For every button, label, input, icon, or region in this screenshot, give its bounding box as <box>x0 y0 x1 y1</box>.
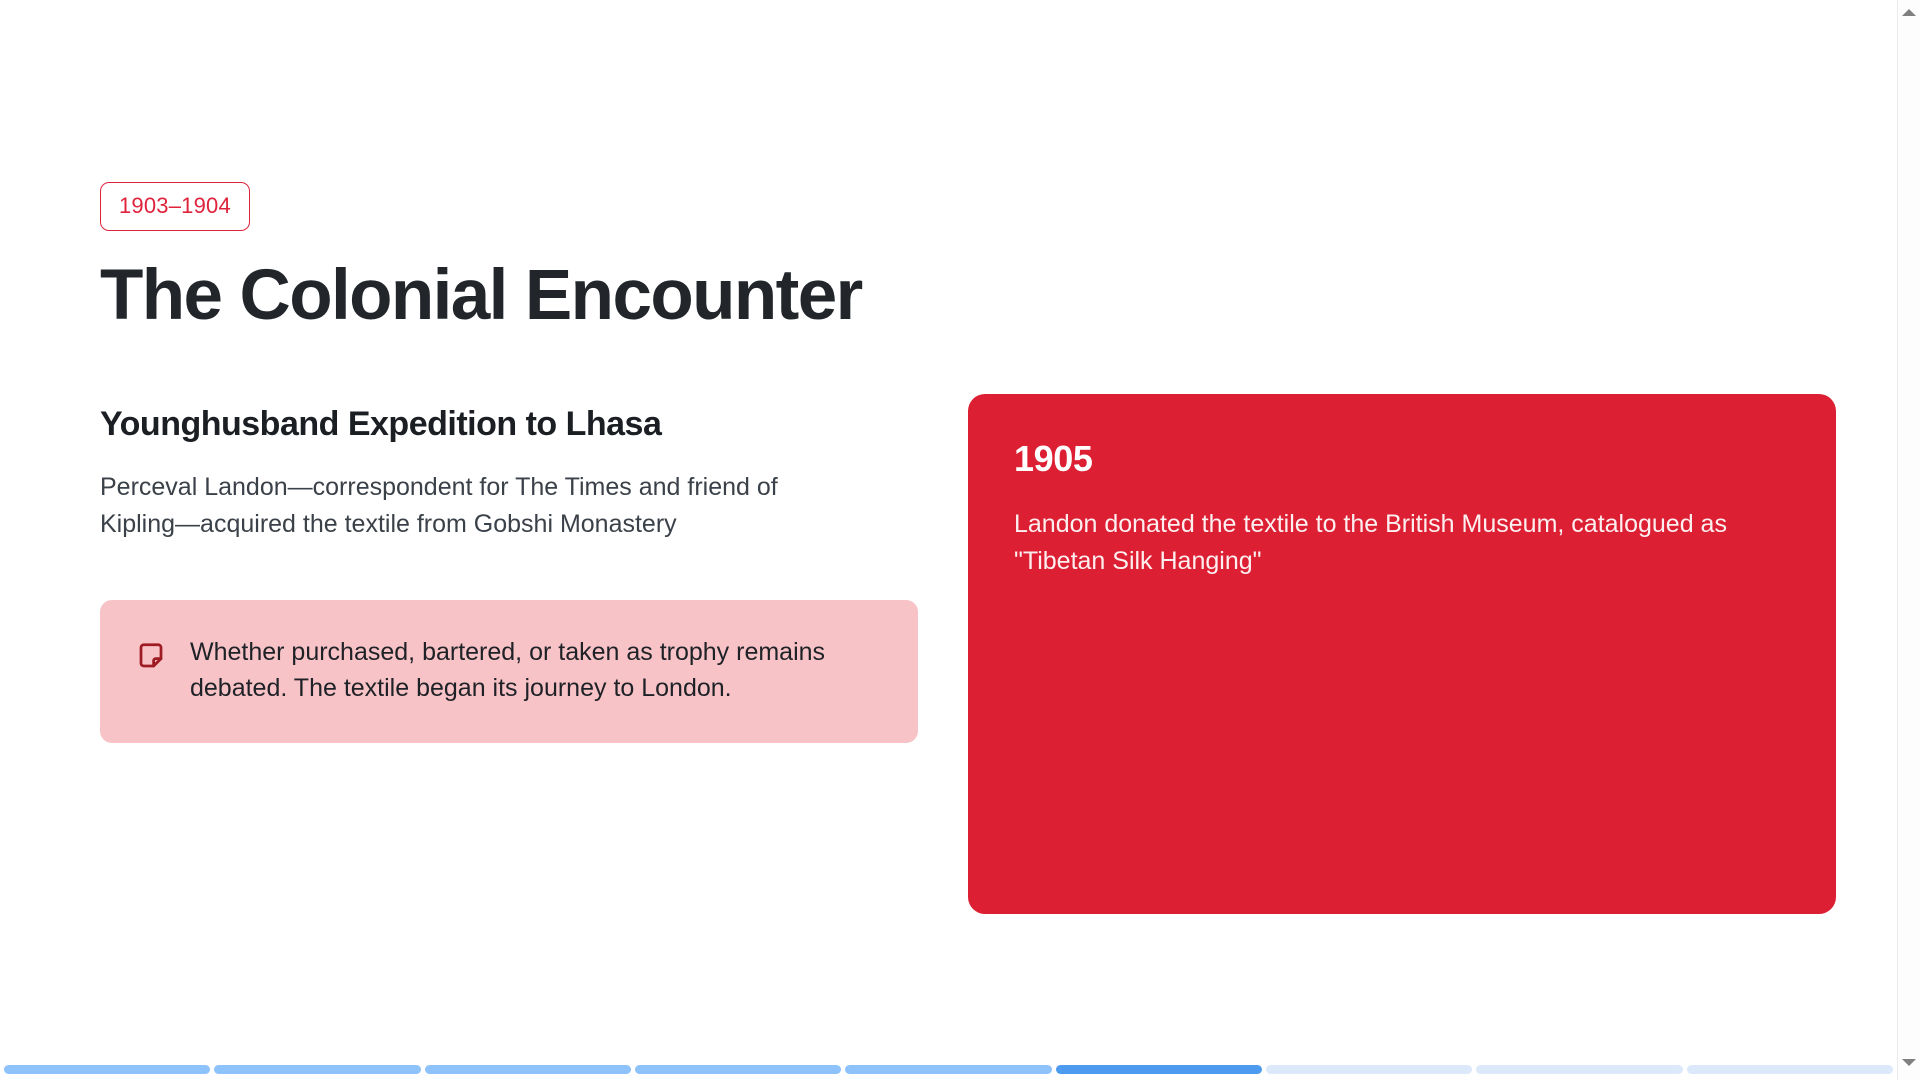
section-paragraph: Perceval Landon—correspondent for The Ti… <box>100 469 845 543</box>
sticky-note-icon <box>136 641 166 671</box>
section-heading: Younghusband Expedition to Lhasa <box>100 404 918 444</box>
progress-segment-9[interactable] <box>1687 1065 1893 1074</box>
callout-box: Whether purchased, bartered, or taken as… <box>100 600 918 744</box>
slide-content: 1903–1904 The Colonial Encounter Younghu… <box>100 182 1840 914</box>
progress-segment-1[interactable] <box>4 1065 210 1074</box>
right-column: 1905 Landon donated the textile to the B… <box>968 394 1836 914</box>
highlight-card-body: Landon donated the textile to the Britis… <box>1014 506 1744 580</box>
vertical-scrollbar[interactable] <box>1897 0 1920 1080</box>
progress-segment-8[interactable] <box>1476 1065 1682 1074</box>
progress-segment-2[interactable] <box>214 1065 420 1074</box>
scroll-down-arrow-icon[interactable] <box>1902 1059 1916 1066</box>
page-title: The Colonial Encounter <box>100 259 1840 334</box>
slide-container: 1903–1904 The Colonial Encounter Younghu… <box>0 0 1897 1080</box>
progress-segment-3[interactable] <box>425 1065 631 1074</box>
progress-segment-6[interactable] <box>1056 1065 1262 1074</box>
callout-text: Whether purchased, bartered, or taken as… <box>190 634 882 708</box>
content-columns: Younghusband Expedition to Lhasa Perceva… <box>100 394 1840 914</box>
highlight-card: 1905 Landon donated the textile to the B… <box>968 394 1836 914</box>
progress-segment-7[interactable] <box>1266 1065 1472 1074</box>
progress-segment-5[interactable] <box>845 1065 1051 1074</box>
progress-segment-4[interactable] <box>635 1065 841 1074</box>
left-column: Younghusband Expedition to Lhasa Perceva… <box>100 394 918 744</box>
highlight-card-year: 1905 <box>1014 438 1790 479</box>
scroll-up-arrow-icon[interactable] <box>1902 9 1916 16</box>
era-badge: 1903–1904 <box>100 182 250 231</box>
slide-progress-bar[interactable] <box>0 1065 1897 1074</box>
